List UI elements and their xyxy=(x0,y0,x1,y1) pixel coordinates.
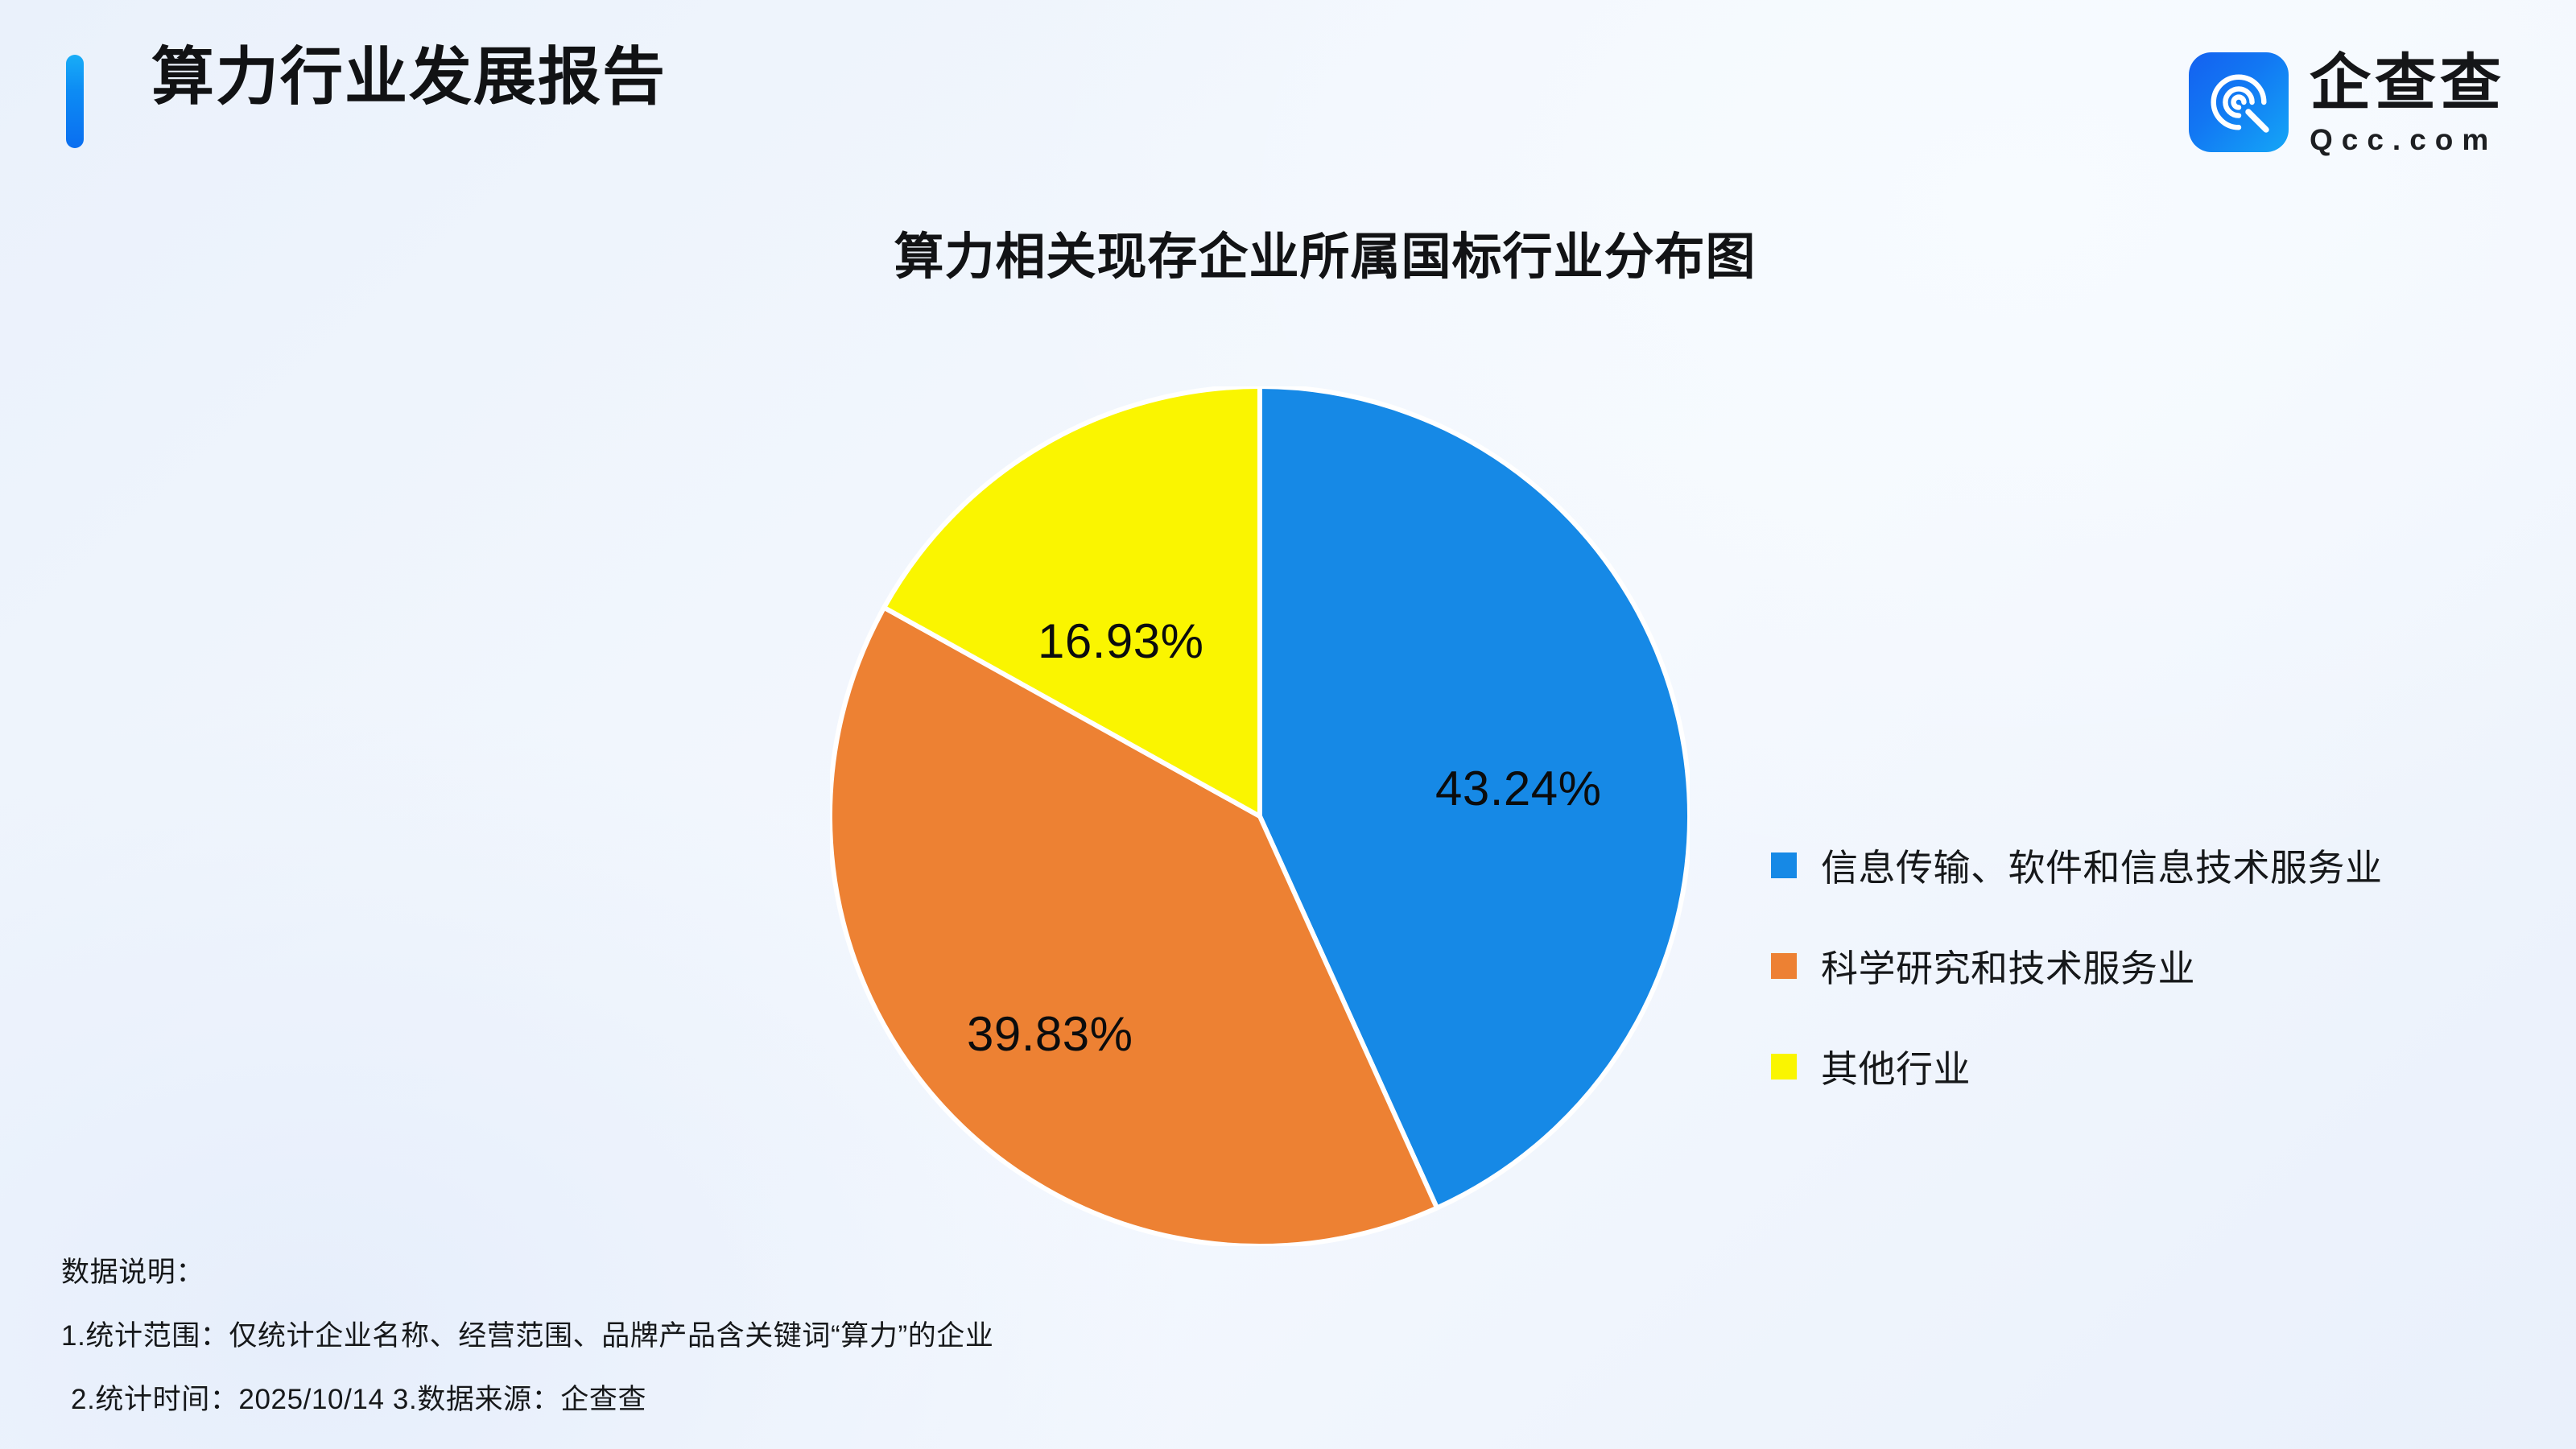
page-title: 算力行业发展报告 xyxy=(151,39,667,115)
footnotes: 数据说明： 1.统计范围：仅统计企业名称、经营范围、品牌产品含关键词“算力”的企… xyxy=(61,1258,1671,1414)
legend-color-swatch xyxy=(1771,953,1797,979)
footnote-heading: 数据说明： xyxy=(61,1258,1671,1286)
legend-item-1[interactable]: 科学研究和技术服务业 xyxy=(1771,915,2383,1016)
legend-color-swatch xyxy=(1771,852,1797,878)
pie-slice-label-2: 16.93% xyxy=(1038,613,1204,669)
legend-item-0[interactable]: 信息传输、软件和信息技术服务业 xyxy=(1771,815,2383,915)
legend-item-2[interactable]: 其他行业 xyxy=(1771,1016,2383,1117)
legend-item-label: 信息传输、软件和信息技术服务业 xyxy=(1821,839,2383,892)
logo-wordmark: 企查查 Qcc.com xyxy=(2310,50,2505,155)
report-slide: 算力行业发展报告 企查查 Qcc.com 算力相关现存企业所属国标行业分布图 4… xyxy=(0,0,2576,1449)
brand-logo: 企查查 Qcc.com xyxy=(2189,50,2505,155)
chart-title-text: 算力相关现存企业所属国标行业分布图 xyxy=(894,216,1756,288)
legend-color-swatch xyxy=(1771,1054,1797,1080)
logo-name-en: Qcc.com xyxy=(2310,125,2497,155)
logo-name-cn: 企查查 xyxy=(2310,53,2505,114)
chart-legend: 信息传输、软件和信息技术服务业 科学研究和技术服务业 其他行业 xyxy=(1771,815,2383,1117)
legend-item-label: 其他行业 xyxy=(1821,1040,1971,1093)
qcc-q-swirl-icon xyxy=(2189,52,2289,152)
legend-item-label: 科学研究和技术服务业 xyxy=(1821,939,2195,993)
chart-title: 算力相关现存企业所属国标行业分布图 xyxy=(0,216,2576,288)
footnote-line-2: 2.统计时间：2025/10/14 3.数据来源：企查查 xyxy=(61,1385,1671,1414)
pie-chart-svg xyxy=(830,386,1690,1246)
title-accent-bar xyxy=(66,55,84,148)
pie-slice-label-0: 43.24% xyxy=(1435,761,1602,816)
footnote-line-1: 1.统计范围：仅统计企业名称、经营范围、品牌产品含关键词“算力”的企业 xyxy=(61,1322,1671,1350)
pie-chart: 43.24% 39.83% 16.93% xyxy=(830,386,1690,1246)
pie-slice-label-1: 39.83% xyxy=(967,1006,1133,1062)
